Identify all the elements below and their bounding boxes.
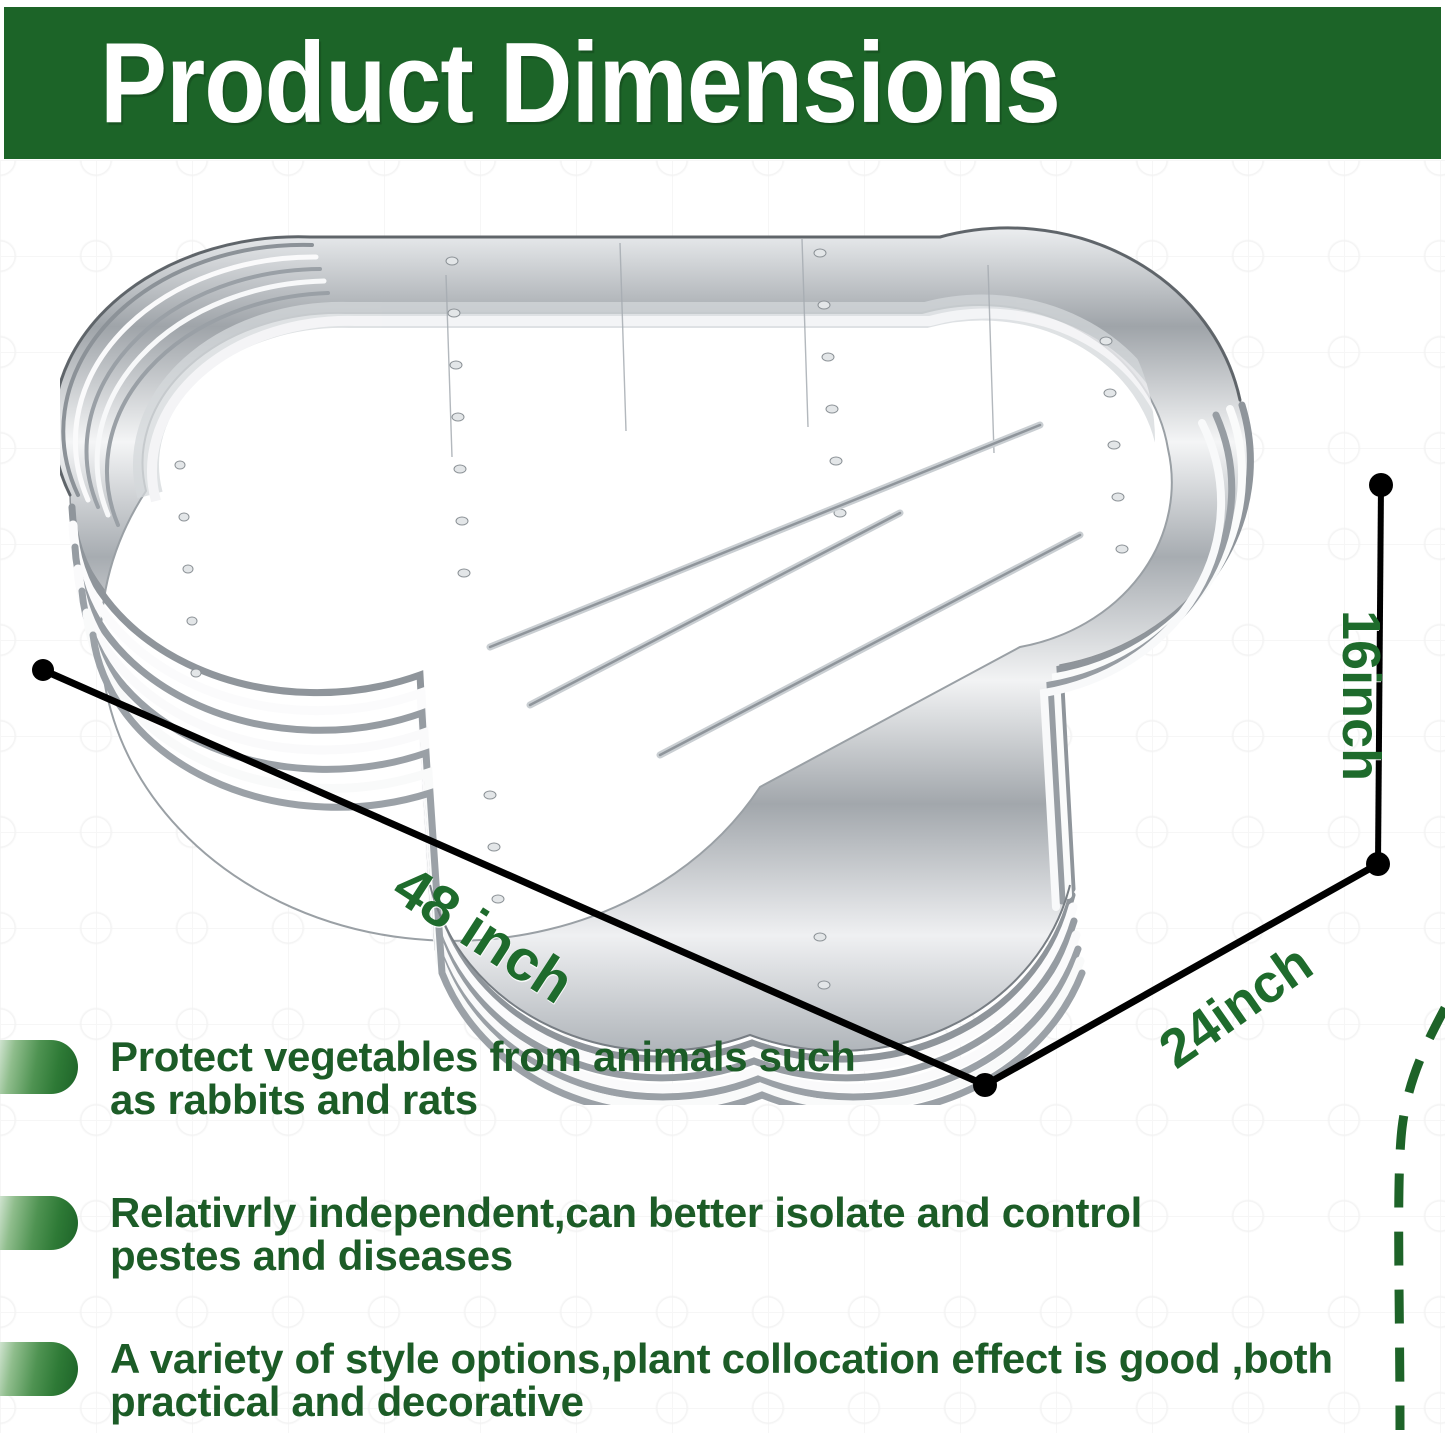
feature-item-1: Relativrly independent,can better isolat… — [0, 1192, 1142, 1278]
feature-line: A variety of style options,plant colloca… — [110, 1338, 1333, 1381]
feature-line: as rabbits and rats — [110, 1079, 855, 1122]
bullet-pill-icon — [0, 1196, 78, 1250]
feature-text-2: A variety of style options,plant colloca… — [110, 1338, 1333, 1424]
bullet-pill-icon — [0, 1342, 78, 1396]
feature-text-0: Protect vegetables from animals such as … — [110, 1036, 855, 1122]
feature-item-0: Protect vegetables from animals such as … — [0, 1036, 855, 1122]
page-title: Product Dimensions — [100, 26, 1060, 140]
feature-line: pestes and diseases — [110, 1235, 1142, 1278]
feature-item-2: A variety of style options,plant colloca… — [0, 1338, 1333, 1424]
header-banner: Product Dimensions — [4, 7, 1441, 159]
feature-line: Protect vegetables from animals such — [110, 1036, 855, 1079]
feature-line: practical and decorative — [110, 1381, 1333, 1424]
decorative-dashed-arc — [1330, 1000, 1445, 1433]
dimension-label-height: 16inch — [1330, 610, 1392, 781]
planter-body — [60, 228, 1250, 1105]
feature-text-1: Relativrly independent,can better isolat… — [110, 1192, 1142, 1278]
bullet-pill-icon — [0, 1040, 78, 1094]
product-illustration-oval-garden-bed — [60, 195, 1380, 1105]
feature-line: Relativrly independent,can better isolat… — [110, 1192, 1142, 1235]
